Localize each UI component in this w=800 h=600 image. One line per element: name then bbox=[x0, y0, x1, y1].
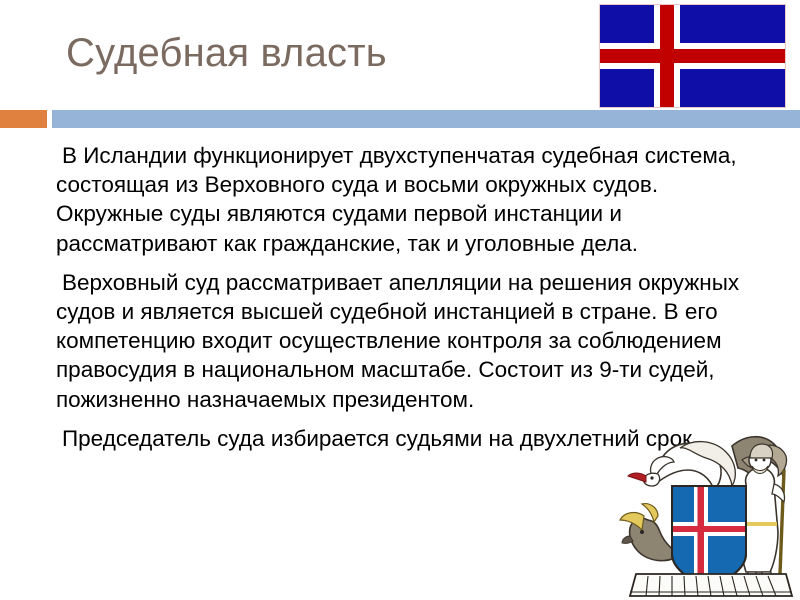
coat-of-arms-of-iceland-image bbox=[614, 424, 800, 600]
flag-cross-red-horizontal bbox=[600, 49, 785, 63]
body-paragraph-1: В Исландии функционирует двухступенчатая… bbox=[56, 141, 756, 258]
page-title: Судебная власть bbox=[66, 29, 586, 77]
basalt-base bbox=[630, 574, 792, 596]
shield bbox=[672, 486, 746, 588]
title-divider-bar bbox=[52, 110, 800, 128]
body-text-block: В Исландии функционирует двухступенчатая… bbox=[56, 141, 756, 453]
eagle-supporter bbox=[628, 442, 735, 490]
title-accent-block bbox=[0, 110, 47, 128]
flag-cross-red-vertical bbox=[660, 5, 674, 107]
slide-canvas: Судебная власть В Исландии функционирует… bbox=[0, 0, 800, 600]
body-paragraph-2: Верховный суд рассматривает апелляции на… bbox=[56, 268, 756, 414]
flag-of-iceland-image bbox=[599, 4, 786, 108]
